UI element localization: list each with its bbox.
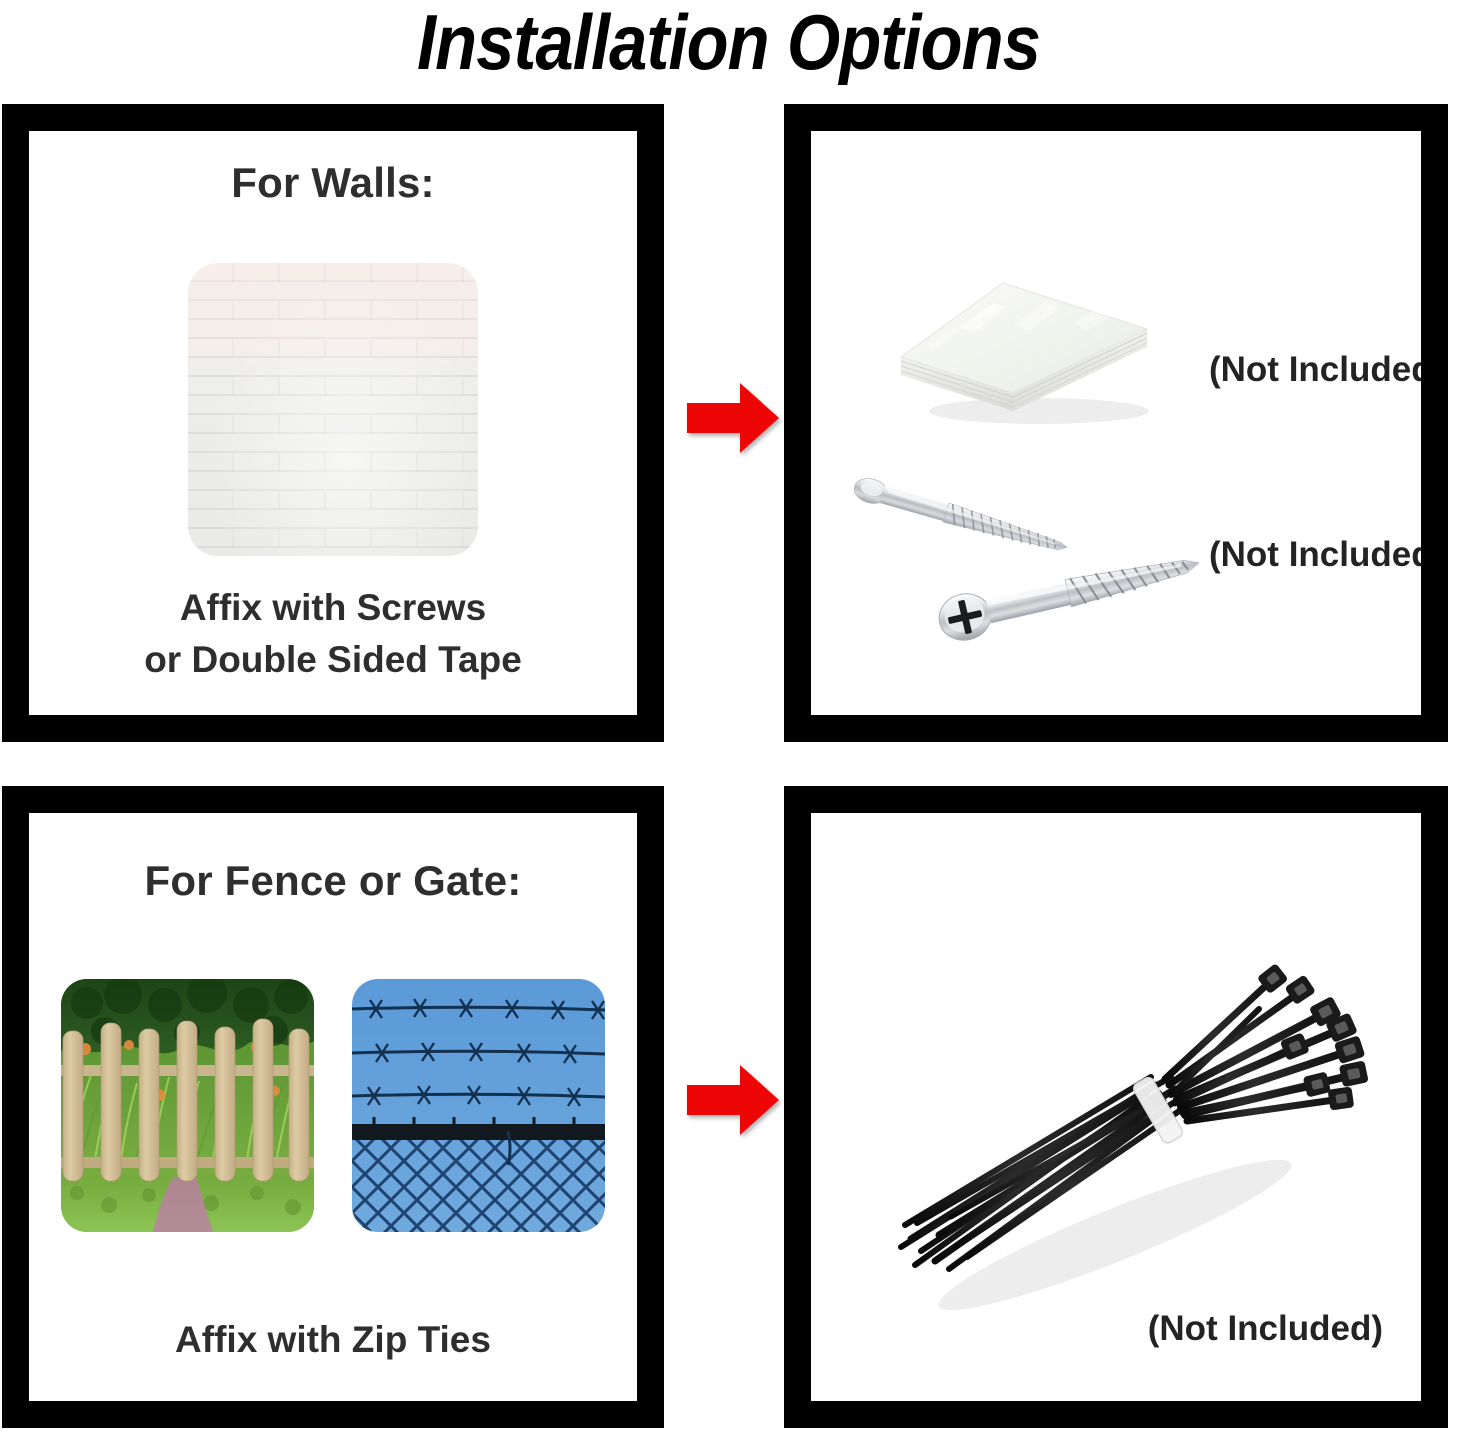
page-title: Installation Options — [87, 0, 1369, 90]
panel-wall-hardware: (Not Included) — [784, 104, 1448, 742]
panel-for-fence-or-gate: For Fence or Gate: — [2, 786, 664, 1428]
panel-wall-hardware-content: (Not Included) — [811, 131, 1421, 715]
panel-for-walls-content: For Walls: Affix with Screws or Double S… — [29, 131, 637, 715]
panel-for-fence-or-gate-content: For Fence or Gate: — [29, 813, 637, 1401]
double-sided-tape-stack-image — [889, 265, 1161, 433]
caption-line-screws: Affix with Screws — [29, 582, 637, 635]
panel-caption-for-walls: Affix with Screws or Double Sided Tape — [29, 582, 637, 687]
arrow-right-icon — [687, 381, 779, 455]
ziptie-not-included-label: (Not Included) — [1148, 1309, 1383, 1349]
wall-shading-overlay — [188, 263, 478, 556]
installation-options-infographic: Installation Options For Walls: Affix wi… — [0, 0, 1457, 1434]
fence-photo-group — [29, 979, 637, 1232]
panel-heading-for-fence-or-gate: For Fence or Gate: — [29, 857, 637, 905]
barbed-wire-chain-link-fence-image — [352, 979, 605, 1232]
panel-zip-ties-content: (Not Included) — [811, 813, 1421, 1401]
arrow-right-icon — [687, 1063, 779, 1137]
panel-zip-ties: (Not Included) — [784, 786, 1448, 1428]
panel-heading-for-walls: For Walls: — [29, 159, 637, 207]
screw-not-included-label: (Not Included) — [1209, 535, 1421, 575]
tape-not-included-label: (Not Included) — [1209, 350, 1421, 390]
black-zip-tie-bundle-image — [855, 917, 1395, 1317]
panel-caption-for-fence: Affix with Zip Ties — [29, 1314, 637, 1367]
white-brick-wall-image — [188, 263, 478, 556]
caption-line-tape: or Double Sided Tape — [29, 634, 637, 687]
panel-for-walls: For Walls: Affix with Screws or Double S… — [2, 104, 664, 742]
wooden-picket-fence-image — [61, 979, 314, 1232]
phillips-wood-screw-image — [929, 539, 1229, 659]
